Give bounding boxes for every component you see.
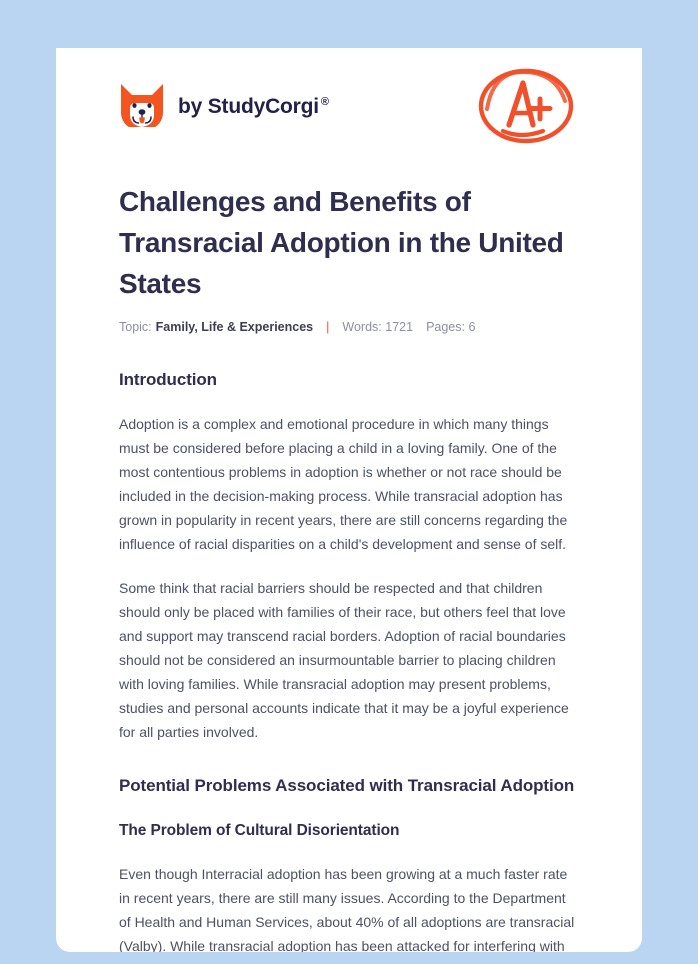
studycorgi-brand[interactable]: by StudyCorgi® — [119, 81, 329, 131]
section-heading-introduction: Introduction — [119, 368, 579, 392]
paragraph: Even though Interracial adoption has bee… — [119, 862, 579, 952]
page-background: by StudyCorgi® Challenges and Benefits o… — [0, 0, 698, 964]
paragraph: Adoption is a complex and emotional proc… — [119, 412, 579, 556]
a-plus-grade-icon — [473, 61, 579, 151]
words-value: 1721 — [385, 320, 413, 334]
pages-value: 6 — [468, 320, 475, 334]
section-heading-potential-problems: Potential Problems Associated with Trans… — [119, 774, 579, 798]
document-header: by StudyCorgi® — [119, 48, 579, 158]
corgi-head-icon — [119, 81, 165, 131]
page-title: Challenges and Benefits of Transracial A… — [119, 181, 579, 304]
pages-label: Pages: — [426, 320, 465, 334]
document-paper: by StudyCorgi® Challenges and Benefits o… — [56, 48, 642, 952]
brand-name: StudyCorgi — [208, 95, 319, 118]
brand-wordmark: by StudyCorgi® — [178, 96, 329, 117]
document-meta: Topic: Family, Life & Experiences | Word… — [119, 321, 579, 334]
meta-separator: | — [326, 321, 329, 334]
pages-count: Pages: 6 — [426, 321, 475, 334]
paragraph: Some think that racial barriers should b… — [119, 576, 579, 744]
words-count: Words: 1721 — [342, 321, 413, 334]
registered-trademark-icon: ® — [321, 96, 329, 108]
topic-value[interactable]: Family, Life & Experiences — [156, 321, 313, 334]
words-label: Words: — [342, 320, 381, 334]
section-heading-cultural-disorientation: The Problem of Cultural Disorientation — [119, 820, 579, 842]
brand-prefix: by — [178, 95, 208, 118]
topic-label: Topic: — [119, 321, 152, 334]
